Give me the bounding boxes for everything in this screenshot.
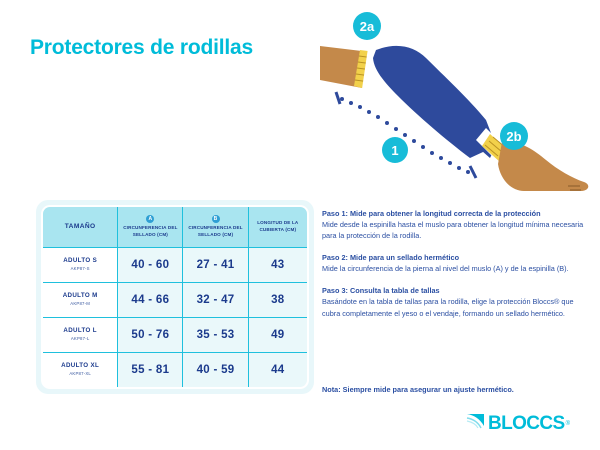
badge-1: 1 [382,137,408,163]
cell-circumference-b: 27 - 41 [183,248,248,283]
table-row: ADULTO S AKP87-S 40 - 60 27 - 41 43 [42,248,308,283]
size-name: ADULTO XL [43,362,117,371]
cell-circumference-b: 32 - 47 [183,283,248,318]
cell-size: ADULTO L AKP87-L [42,318,118,353]
header-circumference-b-label: CIRCUNFERENCIA DEL SELLADO (CM) [183,225,247,239]
step-2: Paso 2: Mide para un sellado hermético M… [322,252,584,274]
size-chart-container: TAMAÑO A CIRCUNFERENCIA DEL SELLADO (CM)… [36,200,314,394]
cell-cover-length: 43 [248,248,308,283]
bloccs-swoosh-icon [466,412,486,435]
size-code: AKP87-M [43,301,117,308]
cell-circumference-a: 55 - 81 [118,353,183,388]
header-badge-a-icon: A [146,215,154,223]
cell-cover-length: 38 [248,283,308,318]
header-circumference-a: A CIRCUNFERENCIA DEL SELLADO (CM) [118,206,183,248]
header-cover-length: LONGITUD DE LA CUBIERTA (CM) [248,206,308,248]
cell-size: ADULTO S AKP87-S [42,248,118,283]
cell-circumference-b: 35 - 53 [183,318,248,353]
step-1: Paso 1: Mide para obtener la longitud co… [322,208,584,241]
table-row: ADULTO XL AKP87-XL 55 - 81 40 - 59 44 [42,353,308,388]
size-name: ADULTO M [43,292,117,301]
step-3: Paso 3: Consulta la tabla de tallas Basá… [322,285,584,318]
size-code: AKP87-L [43,336,117,343]
step-2-heading: Paso 2: Mide para un sellado hermético [322,252,584,263]
size-code: AKP87-XL [43,371,117,378]
size-chart-table: TAMAÑO A CIRCUNFERENCIA DEL SELLADO (CM)… [41,205,309,389]
table-header-row: TAMAÑO A CIRCUNFERENCIA DEL SELLADO (CM)… [42,206,308,248]
header-circumference-b: B CIRCUNFERENCIA DEL SELLADO (CM) [183,206,248,248]
page-title: Protectores de rodillas [30,36,253,60]
badge-2a: 2a [353,12,381,40]
bloccs-logo-text: BLOCCS [488,414,565,433]
size-code: AKP87-S [43,266,117,273]
size-name: ADULTO L [43,327,117,336]
bloccs-logo: BLOCCS ® [466,412,570,435]
step-1-heading: Paso 1: Mide para obtener la longitud co… [322,208,584,219]
step-1-body: Mide desde la espinilla hasta el muslo p… [322,219,584,241]
cell-cover-length: 49 [248,318,308,353]
cell-circumference-a: 40 - 60 [118,248,183,283]
cell-circumference-b: 40 - 59 [183,353,248,388]
size-name: ADULTO S [43,257,117,266]
instructions-panel: Paso 1: Mide para obtener la longitud co… [322,208,584,319]
header-circumference-a-label: CIRCUNFERENCIA DEL SELLADO (CM) [118,225,182,239]
step-3-heading: Paso 3: Consulta la tabla de tallas [322,285,584,296]
step-2-body: Mide la circunferencia de la pierna al n… [322,263,584,274]
badge-2b: 2b [500,122,528,150]
header-size: TAMAÑO [42,206,118,248]
header-cover-length-label: LONGITUD DE LA CUBIERTA (CM) [249,220,307,234]
cell-cover-length: 44 [248,353,308,388]
table-row: ADULTO L AKP87-L 50 - 76 35 - 53 49 [42,318,308,353]
note-text: Nota: Siempre mide para asegurar un ajus… [322,385,584,396]
step-3-body: Basándote en la tabla de tallas para la … [322,296,584,318]
header-badge-b-icon: B [212,215,220,223]
cell-circumference-a: 50 - 76 [118,318,183,353]
bloccs-trademark: ® [566,421,570,427]
cell-size: ADULTO XL AKP87-XL [42,353,118,388]
header-size-label: TAMAÑO [43,222,117,232]
cell-circumference-a: 44 - 66 [118,283,183,318]
table-row: ADULTO M AKP87-M 44 - 66 32 - 47 38 [42,283,308,318]
cell-size: ADULTO M AKP87-M [42,283,118,318]
